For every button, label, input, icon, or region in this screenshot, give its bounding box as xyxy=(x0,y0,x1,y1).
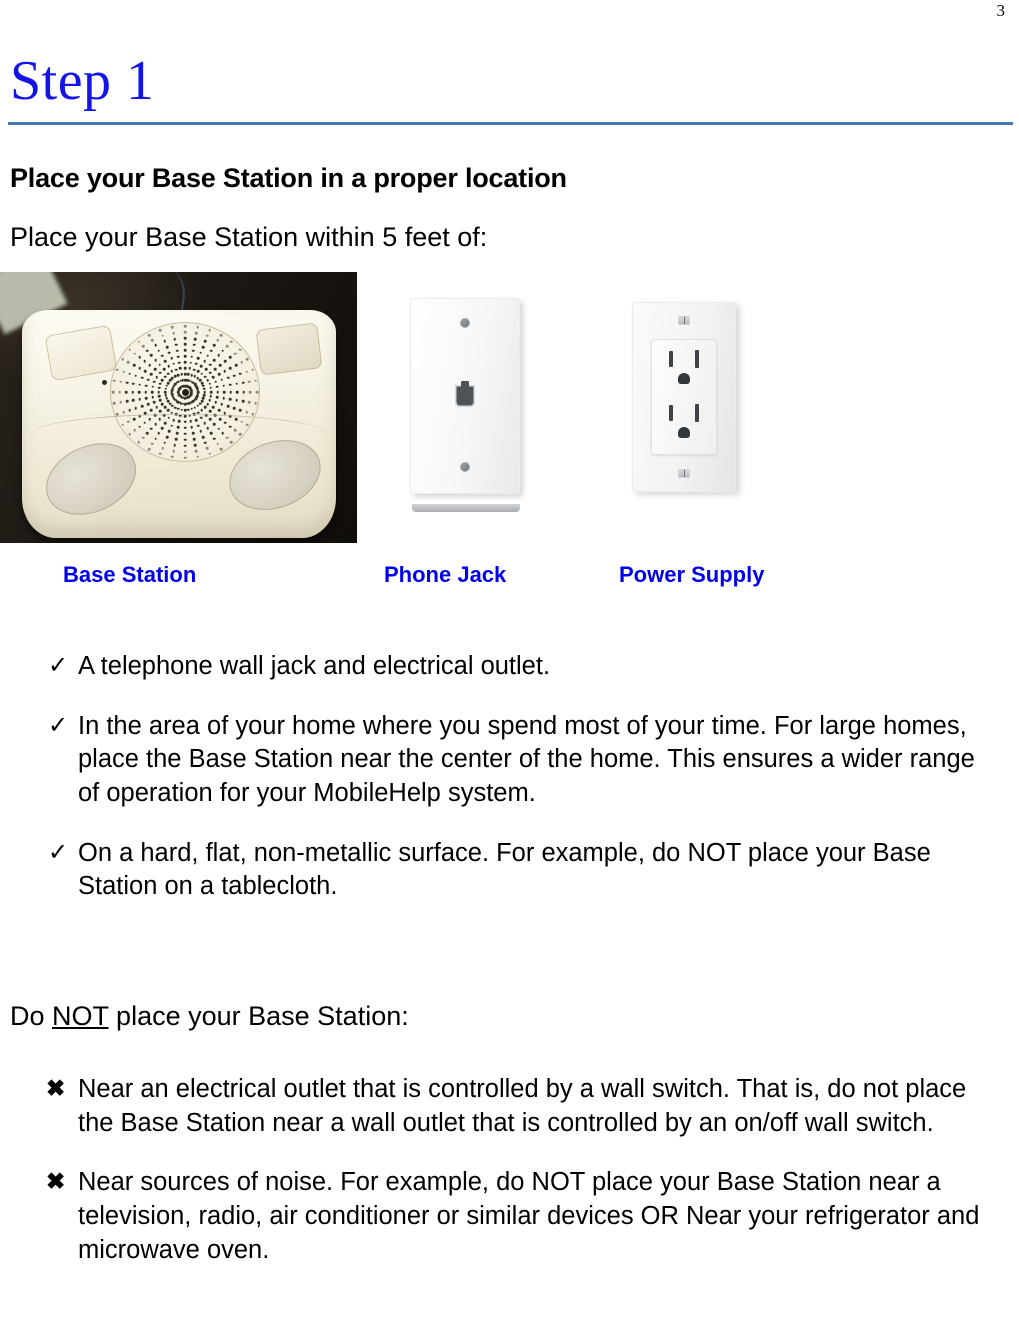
outlet-receptacle xyxy=(651,339,717,455)
list-item-text: A telephone wall jack and electrical out… xyxy=(78,650,999,684)
cross-icon: ✖ xyxy=(46,1073,65,1103)
list-item-text: On a hard, flat, non-metallic surface. F… xyxy=(78,837,999,904)
socket-slot-neutral xyxy=(669,405,673,421)
list-item: ✖ Near sources of noise. For example, do… xyxy=(0,1166,1019,1267)
base-station-image xyxy=(0,272,357,543)
outlet-screw-bottom xyxy=(678,469,690,478)
grille-center xyxy=(182,389,189,396)
status-led-left xyxy=(102,380,107,385)
do-not-list: ✖ Near an electrical outlet that is cont… xyxy=(0,1073,1019,1293)
power-cord xyxy=(147,272,188,310)
wall-plate xyxy=(410,298,520,494)
caption-base-station: Base Station xyxy=(63,562,196,588)
base-station-body xyxy=(22,310,336,538)
socket-slot-hot xyxy=(695,350,699,368)
list-item: ✓ A telephone wall jack and electrical o… xyxy=(0,650,1019,684)
caption-phone-jack: Phone Jack xyxy=(384,562,506,588)
do-not-intro: Do NOT place your Base Station: xyxy=(10,1001,409,1032)
page-number: 3 xyxy=(997,2,1006,19)
checkmark-icon: ✓ xyxy=(48,710,68,742)
do-list: ✓ A telephone wall jack and electrical o… xyxy=(0,650,1019,930)
title-divider xyxy=(8,122,1013,125)
socket-ground xyxy=(678,373,690,384)
checkmark-icon: ✓ xyxy=(48,650,68,682)
socket-slot-neutral xyxy=(669,351,673,367)
list-item: ✖ Near an electrical outlet that is cont… xyxy=(0,1073,1019,1140)
outlet-screw-top xyxy=(678,316,690,325)
do-not-intro-before: Do xyxy=(10,1001,52,1031)
list-item: ✓ On a hard, flat, non-metallic surface.… xyxy=(0,837,1019,904)
wall-plate-edge xyxy=(412,504,520,512)
socket-ground xyxy=(678,427,690,438)
socket-slot-hot xyxy=(695,404,699,422)
base-station-right-panel xyxy=(255,322,322,375)
base-station-left-panel xyxy=(45,325,118,382)
figure-strip: Base Station Phone Jack Power Supply xyxy=(0,272,1019,592)
list-item-text: In the area of your home where you spend… xyxy=(78,710,999,811)
phone-jack-image xyxy=(392,288,540,518)
plate-screw-top xyxy=(460,318,470,328)
do-not-emphasis: NOT xyxy=(52,1001,109,1031)
list-item-text: Near an electrical outlet that is contro… xyxy=(78,1073,999,1140)
checkmark-icon: ✓ xyxy=(48,837,68,869)
rj11-jack-icon xyxy=(455,385,475,407)
socket-upper xyxy=(651,345,717,395)
section-heading: Place your Base Station in a proper loca… xyxy=(10,163,567,194)
outlet-wall-plate xyxy=(632,302,736,492)
section-lead-text: Place your Base Station within 5 feet of… xyxy=(10,222,487,253)
list-item-text: Near sources of noise. For example, do N… xyxy=(78,1166,999,1267)
cross-icon: ✖ xyxy=(46,1166,65,1196)
caption-power-supply: Power Supply xyxy=(619,562,764,588)
page-title: Step 1 xyxy=(10,52,155,111)
list-item: ✓ In the area of your home where you spe… xyxy=(0,710,1019,811)
socket-lower xyxy=(651,399,717,449)
do-not-intro-after: place your Base Station: xyxy=(109,1001,409,1031)
plate-screw-bottom xyxy=(460,462,470,472)
power-supply-image xyxy=(588,296,808,522)
